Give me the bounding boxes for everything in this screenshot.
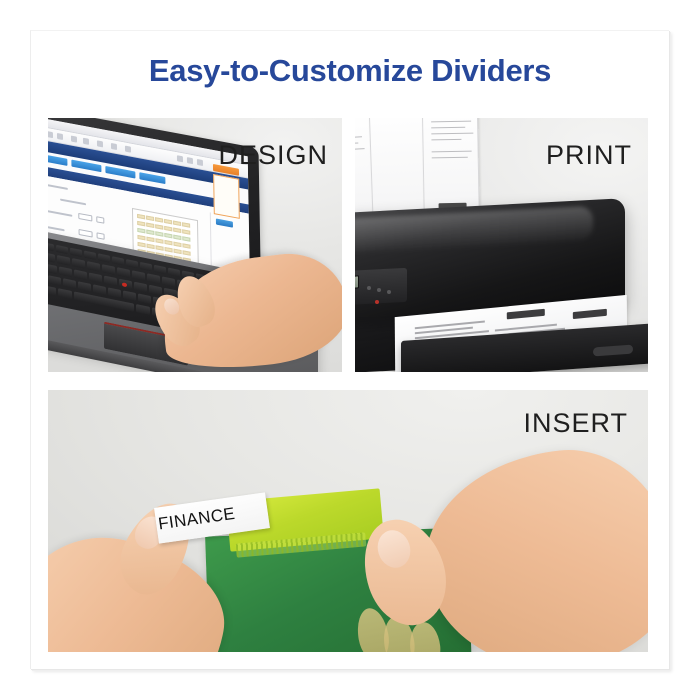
keyboard-key	[89, 273, 102, 284]
keyboard-key	[104, 276, 117, 287]
right-hand	[415, 440, 648, 652]
keyboard-key	[48, 263, 57, 274]
template-cell	[137, 221, 145, 227]
template-cell	[182, 229, 190, 235]
form-label	[48, 182, 68, 190]
keyboard-key	[126, 259, 138, 268]
poster-root: Easy-to-Customize Dividers	[0, 0, 700, 700]
keyboard-key	[112, 256, 124, 265]
printed-line	[431, 127, 465, 129]
keyboard-key	[58, 288, 72, 299]
template-cell	[146, 230, 154, 236]
template-cell	[155, 238, 163, 244]
template-cell	[164, 240, 172, 246]
template-cell	[182, 243, 190, 249]
label-block	[573, 309, 607, 319]
trackpoint-nub[interactable]	[122, 282, 127, 287]
keyboard-key	[140, 262, 152, 271]
printer-control-panel[interactable]	[355, 268, 407, 306]
template-cell	[164, 226, 172, 232]
keyboard-key	[78, 281, 91, 292]
printed-line	[355, 148, 365, 151]
form-label	[48, 208, 72, 216]
keyboard-key	[70, 248, 82, 257]
keyboard-key	[56, 245, 68, 254]
template-cell	[165, 247, 173, 253]
ribbon-icon	[187, 157, 193, 164]
keyboard-key	[168, 268, 180, 277]
template-cell	[182, 236, 190, 242]
step-tab-chip[interactable]	[139, 172, 165, 184]
form-stepper[interactable]	[97, 232, 105, 240]
template-cell	[146, 216, 154, 222]
ribbon-icon	[57, 133, 63, 140]
ribbon-icon	[111, 143, 117, 150]
keyboard-key	[136, 304, 150, 315]
keyboard-key	[74, 269, 87, 280]
template-cell	[173, 228, 181, 234]
panel-label-print: PRINT	[546, 140, 632, 170]
keyboard-key	[162, 276, 175, 287]
keyboard-key	[57, 255, 70, 266]
ribbon-icon	[48, 131, 53, 138]
keyboard-key	[48, 275, 61, 286]
keyboard-key	[134, 282, 147, 293]
template-cell	[164, 219, 172, 225]
printed-line	[355, 142, 358, 145]
keyboard-key	[147, 273, 160, 284]
printer-button[interactable]	[387, 290, 391, 294]
printed-line	[415, 321, 485, 329]
keyboard-key	[98, 253, 110, 262]
ribbon-icon	[97, 140, 103, 147]
form-label	[48, 225, 65, 232]
keyboard-key	[72, 258, 85, 269]
ribbon-icon	[177, 155, 183, 162]
printer-lcd-display	[355, 275, 359, 289]
selected-template-frame	[213, 174, 240, 219]
printed-line	[431, 139, 461, 141]
form-input[interactable]	[79, 229, 93, 238]
keyboard-key	[138, 294, 151, 305]
label-block	[507, 309, 545, 320]
template-cell	[137, 228, 145, 234]
template-cell	[173, 242, 181, 248]
keyboard-key	[149, 285, 162, 296]
template-cell	[155, 224, 163, 230]
keyboard-key	[93, 284, 106, 295]
printed-line	[355, 136, 362, 139]
ribbon-icon	[71, 136, 77, 143]
keyboard-key	[102, 264, 115, 275]
template-cell	[146, 223, 154, 229]
printed-line	[432, 151, 472, 153]
keyboard-key	[87, 261, 100, 272]
template-cell	[138, 242, 146, 248]
template-cell	[137, 214, 145, 220]
template-cell	[173, 221, 181, 227]
panel-print: PRINT	[355, 118, 648, 372]
template-cell	[174, 249, 182, 255]
template-cell	[137, 235, 145, 241]
keyboard-key	[154, 265, 166, 274]
keyboard-key	[108, 287, 121, 298]
keyboard-key	[59, 266, 72, 277]
template-cell	[155, 231, 163, 237]
keyboard-key	[48, 252, 55, 263]
template-cell	[183, 250, 191, 256]
keyboard-key	[123, 290, 136, 301]
template-cell	[146, 237, 154, 243]
printer-power-button[interactable]	[375, 300, 379, 304]
panel-label-insert: INSERT	[523, 408, 628, 438]
template-cell	[173, 235, 181, 241]
template-cell	[164, 233, 172, 239]
keyboard-key	[48, 242, 54, 251]
printer-button[interactable]	[377, 288, 381, 292]
printed-line	[431, 121, 471, 123]
panel-insert: FINANCE INSERT	[48, 390, 648, 652]
printer-button[interactable]	[367, 286, 371, 290]
ribbon-icon	[125, 146, 131, 153]
form-label	[60, 199, 86, 206]
template-cell	[182, 222, 190, 228]
keyboard-key	[117, 267, 130, 278]
form-input[interactable]	[78, 213, 92, 222]
panel-label-design: DESIGN	[218, 140, 328, 170]
template-cell	[155, 217, 163, 223]
template-cell	[156, 245, 164, 251]
printed-line	[432, 157, 468, 159]
panel-design: DESIGN	[48, 118, 342, 372]
form-stepper[interactable]	[96, 216, 104, 224]
printed-line	[431, 133, 473, 135]
page-title: Easy-to-Customize Dividers	[0, 52, 700, 90]
keyboard-key	[63, 278, 76, 289]
template-cell	[147, 244, 155, 250]
keyboard-key	[132, 270, 145, 281]
keyboard-key	[48, 285, 56, 296]
lid-highlight	[355, 206, 593, 253]
ribbon-icon	[83, 138, 89, 145]
keyboard-key	[84, 251, 96, 260]
ribbon-icon	[197, 159, 203, 166]
